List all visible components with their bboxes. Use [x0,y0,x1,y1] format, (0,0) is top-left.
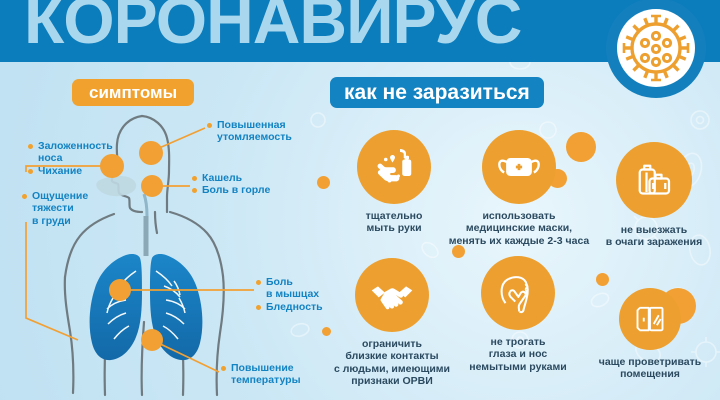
prevention-caption: не выезжать в очаги заражения [588,224,720,249]
prevention-tile-wash-hands[interactable]: тщательно мыть руки [330,130,458,235]
infographic-poster: КОРОНАВИРУС симптомы как не заразиться [0,0,720,400]
prevention-caption: ограничить близкие контакты с людьми, им… [322,338,462,387]
symptom-callout-temperature: Повышение температуры [221,362,301,387]
symptom-line: в груди [22,215,88,227]
coronavirus-icon [604,0,708,100]
symptom-line: температуры [221,374,301,386]
symptom-line: в мышцах [256,288,323,300]
prevention-caption: не трогать глаза и нос немытыми руками [452,336,584,373]
symptom-callout-nose: Заложенность носа Чихание [28,140,113,177]
node-fatigue [139,141,163,165]
luggage-icon [616,142,692,218]
symptom-line: Бледность [256,301,323,313]
no-face-touch-icon [481,256,555,330]
decorative-dot [317,176,330,189]
symptom-line: Повышение [221,362,301,374]
symptom-callout-cough: Кашель Боль в горле [192,172,270,197]
prevention-caption: использовать медицинские маски, менять и… [440,210,598,247]
node-temperature [141,329,163,351]
symptom-line: Кашель [192,172,270,184]
prevention-tile-medical-mask[interactable]: использовать медицинские маски, менять и… [440,130,598,247]
node-chest [109,279,131,301]
handwash-icon [357,130,431,204]
symptom-line: утомляемость [207,131,292,143]
symptom-line: Чихание [28,165,113,177]
symptom-line: Повышенная [207,119,292,131]
prevention-tile-ventilate[interactable]: чаще проветривать помещения [580,288,720,381]
symptom-line: Боль в горле [192,184,270,196]
node-throat [141,175,163,197]
symptom-callout-chest: Ощущение тяжести в груди [22,190,88,227]
symptom-line: Заложенность [28,140,113,152]
medical-mask-icon [482,130,556,204]
handshake-icon [355,258,429,332]
section-label-symptoms: симптомы [72,79,194,106]
prevention-tile-no-face-touch[interactable]: не трогать глаза и нос немытыми руками [452,256,584,373]
open-window-icon [619,288,681,350]
prevention-tile-avoid-travel[interactable]: не выезжать в очаги заражения [588,142,720,249]
decorative-dot [596,273,609,286]
symptom-line: Ощущение [22,190,88,202]
symptom-callout-muscle: Боль в мышцах Бледность [256,276,323,313]
section-label-prevention: как не заразиться [330,77,544,108]
symptom-callout-fatigue: Повышенная утомляемость [207,119,292,144]
symptom-line: Боль [256,276,323,288]
symptom-line: носа [28,152,113,164]
page-title: КОРОНАВИРУС [24,0,521,53]
symptom-line: тяжести [22,202,88,214]
prevention-caption: чаще проветривать помещения [580,356,720,381]
prevention-tile-limit-contact[interactable]: ограничить близкие контакты с людьми, им… [322,258,462,387]
prevention-caption: тщательно мыть руки [330,210,458,235]
